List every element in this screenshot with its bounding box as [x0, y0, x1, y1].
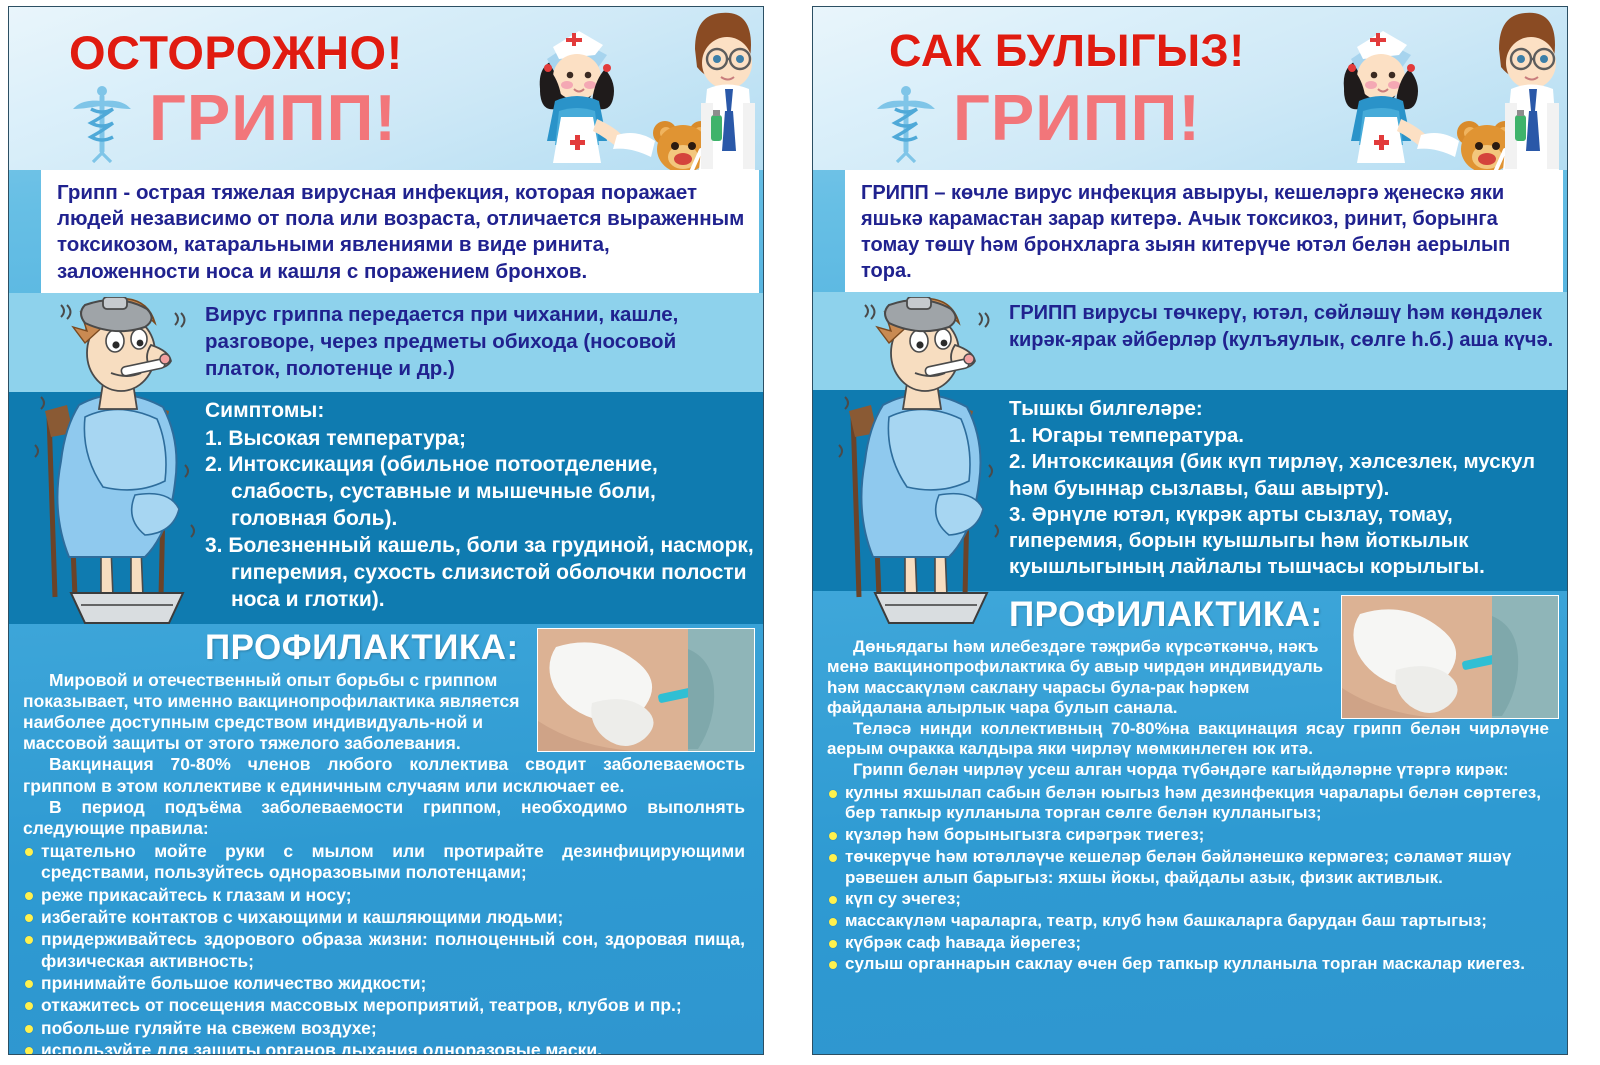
prophylaxis-section: ПРОФИЛАКТИКА: Дөньядагы һәм илебездәге т… [813, 591, 1567, 976]
bullet-icon [25, 848, 33, 856]
intro-box: ГРИПП – көчле вирус инфекция авыруы, кеш… [845, 170, 1563, 292]
rule-text: төчкерүче һәм ютәлләүче кешеләр белән бә… [845, 847, 1511, 887]
poster-title-primary: ОСТОРОЖНО! [69, 25, 403, 80]
bullet-icon [25, 1002, 33, 1010]
rule-text: кулны яхшылап сабын белән юыгыз һәм дези… [845, 783, 1541, 823]
bullet-icon [25, 1047, 33, 1055]
rule-item: массакүләм чараларга, театр, клуб һәм ба… [827, 911, 1549, 932]
bullet-icon [829, 940, 837, 948]
rule-text: избегайте контактов с чихающими и кашляю… [41, 907, 563, 927]
prophylaxis-section: ПРОФИЛАКТИКА: Мировой и отечественный оп… [9, 624, 763, 1055]
bullet-icon [829, 918, 837, 926]
prophylaxis-paragraph: Грипп белән чирләү усеш алган чорда түбә… [827, 760, 1549, 781]
bullet-icon [25, 892, 33, 900]
rule-text: массакүләм чараларга, театр, клуб һәм ба… [845, 911, 1487, 930]
intro-text: ГРИПП – көчле вирус инфекция авыруы, кеш… [861, 180, 1549, 284]
poster-title-primary: САК БУЛЫГЫЗ! [889, 25, 1245, 77]
transmission-text: Вирус гриппа передается при чихании, каш… [205, 301, 753, 383]
prophylaxis-paragraph: Теләсә нинди коллективның 70-80%на вакци… [827, 719, 1549, 760]
symptom-item: 1. Югары температура. [1009, 423, 1559, 449]
symptoms-heading: Симптомы: [205, 398, 755, 425]
caduceus-icon [875, 83, 937, 163]
rule-text: придерживайтесь здорового образа жизни: … [41, 929, 745, 970]
rule-item: реже прикасайтесь к глазам и носу; [23, 885, 745, 906]
rules-list: кулны яхшылап сабын белән юыгыз һәм дези… [813, 783, 1559, 976]
bullet-icon [829, 961, 837, 969]
rule-item: откажитесь от посещения массовых меропри… [23, 995, 745, 1016]
rule-item: күп су эчегез; [827, 889, 1549, 910]
bullet-icon [25, 936, 33, 944]
sick-man-illustration [819, 297, 1019, 627]
symptom-item: 1. Высокая температура; [205, 426, 755, 453]
rule-text: күбрәк саф һавада йөрегез; [845, 933, 1081, 952]
intro-text: Грипп - острая тяжелая вирусная инфекция… [57, 180, 745, 285]
sick-man-illustration [15, 297, 215, 627]
symptom-item: 3. Әрнүле ютәл, күкрәк арты сызлау, тома… [1009, 502, 1559, 581]
caduceus-icon [71, 83, 133, 163]
bullet-icon [25, 980, 33, 988]
rule-text: күзләр һәм борыныгызга сирәгрәк тиегез; [845, 825, 1204, 844]
vaccination-injection-photo [1341, 595, 1559, 719]
rule-item: используйте для защиты органов дыхания о… [23, 1040, 745, 1055]
rule-text: тщательно мойте руки с мылом или протира… [41, 841, 745, 882]
poster-title-secondary: ГРИПП! [953, 80, 1201, 155]
rule-item: побольше гуляйте на свежем воздухе; [23, 1018, 745, 1039]
poster-tatar: САК БУЛЫГЫЗ! ГРИПП! [812, 6, 1568, 1055]
rule-item: кулны яхшылап сабын белән юыгыз һәм дези… [827, 783, 1549, 824]
symptoms-heading: Тышкы билгеләре: [1009, 396, 1559, 422]
prophylaxis-paragraph: Мировой и отечественный опыт борьбы с гр… [23, 670, 531, 755]
rule-item: принимайте большое количество жидкости; [23, 973, 745, 994]
poster-title-secondary: ГРИПП! [149, 80, 397, 155]
poster-header: САК БУЛЫГЫЗ! ГРИПП! [813, 7, 1567, 170]
poster-sheet: ОСТОРОЖНО! ГРИПП! [0, 0, 1600, 1065]
rule-text: используйте для защиты органов дыхания о… [41, 1040, 602, 1055]
rule-text: откажитесь от посещения массовых меропри… [41, 995, 682, 1015]
poster-header: ОСТОРОЖНО! ГРИПП! [9, 7, 763, 170]
bullet-icon [829, 832, 837, 840]
bullet-icon [25, 914, 33, 922]
rule-item: сулыш органнарын саклау өчен бер тапкыр … [827, 954, 1549, 975]
rule-item: придерживайтесь здорового образа жизни: … [23, 929, 745, 972]
prophylaxis-paragraph: В период подъёма заболеваемости гриппом,… [23, 797, 745, 839]
nurse-doctor-teddy-illustration [489, 7, 757, 170]
rule-item: тщательно мойте руки с мылом или протира… [23, 841, 745, 884]
symptom-item: 2. Интоксикация (бик күп тирләү, хәлсезл… [1009, 449, 1559, 501]
bullet-icon [25, 1025, 33, 1033]
nurse-doctor-teddy-illustration [1293, 7, 1561, 170]
symptom-item: 3. Болезненный кашель, боли за грудиной,… [205, 533, 755, 614]
rules-list: тщательно мойте руки с мылом или протира… [9, 841, 755, 1055]
rule-item: күбрәк саф һавада йөрегез; [827, 933, 1549, 954]
rule-text: реже прикасайтесь к глазам и носу; [41, 885, 352, 905]
rule-text: побольше гуляйте на свежем воздухе; [41, 1018, 377, 1038]
vaccination-injection-photo [537, 628, 755, 752]
bullet-icon [829, 896, 837, 904]
prophylaxis-paragraph: Дөньядагы һәм илебездәге тәҗрибә күрсәтк… [827, 637, 1335, 719]
rule-text: сулыш органнарын саклау өчен бер тапкыр … [845, 954, 1525, 973]
transmission-text: ГРИПП вирусы төчкерү, ютәл, сөйләшү һәм … [1009, 300, 1557, 353]
poster-russian: ОСТОРОЖНО! ГРИПП! [8, 6, 764, 1055]
bullet-icon [829, 854, 837, 862]
intro-box: Грипп - острая тяжелая вирусная инфекция… [41, 170, 759, 293]
bullet-icon [829, 790, 837, 798]
rule-item: төчкерүче һәм ютәлләүче кешеләр белән бә… [827, 847, 1549, 888]
rule-item: избегайте контактов с чихающими и кашляю… [23, 907, 745, 928]
prophylaxis-paragraph: Вакцинация 70-80% членов любого коллекти… [23, 754, 745, 796]
rule-item: күзләр һәм борыныгызга сирәгрәк тиегез; [827, 825, 1549, 846]
rule-text: принимайте большое количество жидкости; [41, 973, 426, 993]
rule-text: күп су эчегез; [845, 889, 961, 908]
symptom-item: 2. Интоксикация (обильное потоотделение,… [205, 452, 755, 533]
